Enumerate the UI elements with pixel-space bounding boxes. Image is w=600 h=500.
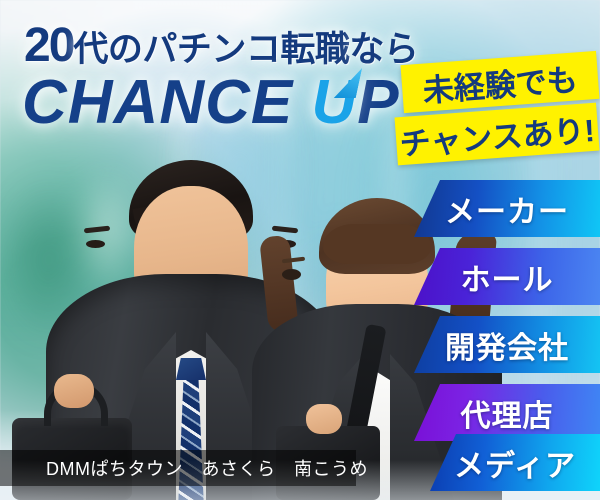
chance-up-banner[interactable]: 20代のパチンコ転職なら CHANCE UP 未経験でも チャンスあり! メーカ… — [0, 0, 600, 500]
headline-number: 20 — [24, 19, 73, 72]
headline-tail: なら — [349, 30, 418, 69]
tag-hall-label: ホール — [461, 255, 554, 299]
male-hand — [54, 374, 94, 408]
tag-agency-label: 代理店 — [461, 391, 554, 435]
caption-bar: DMMぱちタウン あさくら 南こうめ — [0, 450, 356, 486]
male-eyebrow-left — [84, 226, 110, 234]
badge-no-experience-label: 未経験でも — [421, 54, 579, 110]
tag-media[interactable]: メディア — [430, 434, 600, 491]
tag-development-company-label: 開発会社 — [445, 323, 569, 367]
caption-text: DMMぱちタウン あさくら 南こうめ — [46, 455, 368, 481]
male-eye-left — [86, 240, 105, 248]
tag-maker[interactable]: メーカー — [414, 180, 600, 237]
male-tie-knot — [176, 358, 206, 380]
logo-p-letter: P — [357, 68, 399, 137]
logo-u-letter: U — [311, 68, 357, 137]
female-eye-left — [282, 269, 301, 280]
logo-chance-text: CHANCE — [22, 68, 311, 137]
female-bangs — [323, 224, 431, 264]
logo-u-accent: U — [311, 72, 357, 134]
tag-agency[interactable]: 代理店 — [414, 384, 600, 441]
tag-hall[interactable]: ホール — [414, 248, 600, 305]
tag-maker-label: メーカー — [445, 187, 569, 231]
female-hand — [306, 404, 342, 434]
chance-up-logo: CHANCE UP — [22, 72, 400, 134]
tag-development-company[interactable]: 開発会社 — [414, 316, 600, 373]
headline-middle: 代のパチンコ転職 — [73, 30, 349, 69]
headline: 20代のパチンコ転職なら — [24, 18, 418, 73]
tag-media-label: メディア — [454, 441, 576, 485]
